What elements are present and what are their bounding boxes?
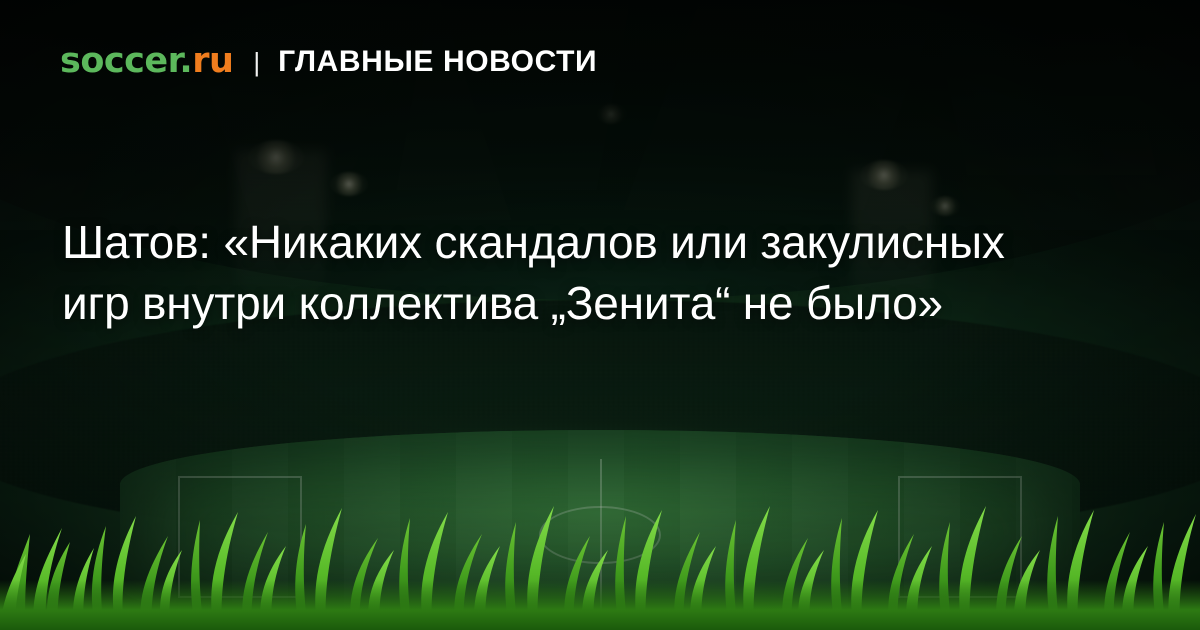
penalty-box-right	[898, 476, 1022, 598]
site-header: soccer.ru | ГЛАВНЫЕ НОВОСТИ	[60, 44, 597, 79]
logo-dot: .	[179, 41, 192, 81]
football-pitch	[120, 430, 1080, 630]
logo-word: soccer	[60, 41, 179, 81]
logo-tld: ru	[192, 41, 233, 81]
halfway-line	[600, 459, 602, 610]
share-card: soccer.ru | ГЛАВНЫЕ НОВОСТИ Шатов: «Ника…	[0, 0, 1200, 630]
article-title: Шатов: «Никаких скандалов или закулисных…	[62, 212, 1062, 334]
section-label: ГЛАВНЫЕ НОВОСТИ	[278, 47, 597, 77]
header-separator: |	[253, 49, 260, 75]
penalty-box-left	[178, 476, 302, 598]
soccer-ru-logo[interactable]: soccer.ru	[60, 44, 233, 79]
